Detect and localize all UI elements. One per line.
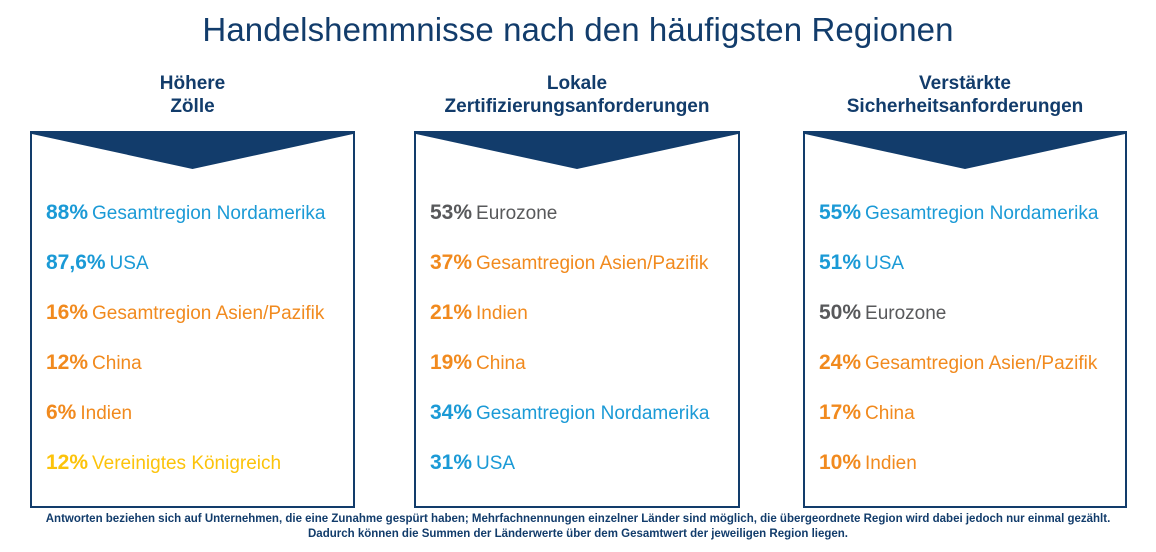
list-item: 88%Gesamtregion Nordamerika (46, 188, 353, 238)
row-value: 19% (430, 351, 472, 374)
row-label: USA (472, 453, 515, 474)
column-box-1: 53%Eurozone37%Gesamtregion Asien/Pazifik… (414, 131, 740, 508)
row-value: 31% (430, 451, 472, 474)
list-item: 19%China (430, 338, 738, 388)
list-item: 50%Eurozone (819, 288, 1125, 338)
list-item: 12%Vereinigtes Königreich (46, 438, 353, 488)
list-item: 6%Indien (46, 388, 353, 438)
row-value: 21% (430, 301, 472, 324)
column-0: HöhereZölle88%Gesamtregion Nordamerika87… (30, 72, 355, 508)
row-label: Gesamtregion Asien/Pazifik (472, 253, 708, 274)
row-label: Gesamtregion Asien/Pazifik (861, 353, 1097, 374)
row-label: Vereinigtes Königreich (88, 453, 281, 474)
row-value: 24% (819, 351, 861, 374)
row-value: 50% (819, 301, 861, 324)
rows-list-2: 55%Gesamtregion Nordamerika51%USA50%Euro… (805, 188, 1125, 488)
footnote-line-2: Dadurch können die Summen der Länderwert… (0, 527, 1156, 542)
list-item: 21%Indien (430, 288, 738, 338)
row-value: 87,6% (46, 251, 106, 274)
column-header-line-1: Verstärkte (803, 72, 1127, 95)
column-header-line-2: Zertifizierungsanforderungen (414, 95, 740, 118)
row-value: 37% (430, 251, 472, 274)
list-item: 31%USA (430, 438, 738, 488)
rows-list-0: 88%Gesamtregion Nordamerika87,6%USA16%Ge… (32, 188, 353, 488)
row-label: Eurozone (861, 303, 946, 324)
column-2: VerstärkteSicherheitsanforderungen55%Ges… (803, 72, 1127, 508)
row-label: China (861, 403, 915, 424)
column-header-line-1: Lokale (414, 72, 740, 95)
row-label: Indien (861, 453, 917, 474)
columns-container: HöhereZölle88%Gesamtregion Nordamerika87… (0, 72, 1156, 508)
page-title: Handelshemmnisse nach den häufigsten Reg… (0, 10, 1156, 50)
row-label: Gesamtregion Asien/Pazifik (88, 303, 324, 324)
column-header-1: LokaleZertifizierungsanforderungen (414, 72, 740, 122)
list-item: 37%Gesamtregion Asien/Pazifik (430, 238, 738, 288)
list-item: 17%China (819, 388, 1125, 438)
column-header-line-2: Zölle (30, 95, 355, 118)
row-label: Indien (472, 303, 528, 324)
row-label: China (472, 353, 526, 374)
row-value: 34% (430, 401, 472, 424)
row-value: 53% (430, 201, 472, 224)
row-value: 10% (819, 451, 861, 474)
row-label: Gesamtregion Nordamerika (861, 203, 1098, 224)
chevron-down-icon (805, 133, 1125, 169)
column-header-line-2: Sicherheitsanforderungen (803, 95, 1127, 118)
footnote: Antworten beziehen sich auf Unternehmen,… (0, 512, 1156, 542)
row-label: Gesamtregion Nordamerika (88, 203, 325, 224)
rows-list-1: 53%Eurozone37%Gesamtregion Asien/Pazifik… (416, 188, 738, 488)
column-box-0: 88%Gesamtregion Nordamerika87,6%USA16%Ge… (30, 131, 355, 508)
row-value: 6% (46, 401, 76, 424)
row-value: 88% (46, 201, 88, 224)
row-value: 55% (819, 201, 861, 224)
list-item: 24%Gesamtregion Asien/Pazifik (819, 338, 1125, 388)
row-value: 17% (819, 401, 861, 424)
list-item: 10%Indien (819, 438, 1125, 488)
row-label: Eurozone (472, 203, 557, 224)
column-header-2: VerstärkteSicherheitsanforderungen (803, 72, 1127, 122)
column-box-2: 55%Gesamtregion Nordamerika51%USA50%Euro… (803, 131, 1127, 508)
column-header-line-1: Höhere (30, 72, 355, 95)
row-value: 12% (46, 451, 88, 474)
row-label: Gesamtregion Nordamerika (472, 403, 709, 424)
list-item: 12%China (46, 338, 353, 388)
row-value: 12% (46, 351, 88, 374)
list-item: 53%Eurozone (430, 188, 738, 238)
row-label: China (88, 353, 142, 374)
list-item: 51%USA (819, 238, 1125, 288)
footnote-line-1: Antworten beziehen sich auf Unternehmen,… (0, 512, 1156, 527)
list-item: 87,6%USA (46, 238, 353, 288)
row-label: Indien (76, 403, 132, 424)
chevron-down-icon (32, 133, 353, 169)
row-value: 16% (46, 301, 88, 324)
row-label: USA (106, 253, 149, 274)
row-value: 51% (819, 251, 861, 274)
row-label: USA (861, 253, 904, 274)
column-header-0: HöhereZölle (30, 72, 355, 122)
list-item: 34%Gesamtregion Nordamerika (430, 388, 738, 438)
column-1: LokaleZertifizierungsanforderungen53%Eur… (414, 72, 740, 508)
chevron-down-icon (416, 133, 738, 169)
list-item: 16%Gesamtregion Asien/Pazifik (46, 288, 353, 338)
list-item: 55%Gesamtregion Nordamerika (819, 188, 1125, 238)
